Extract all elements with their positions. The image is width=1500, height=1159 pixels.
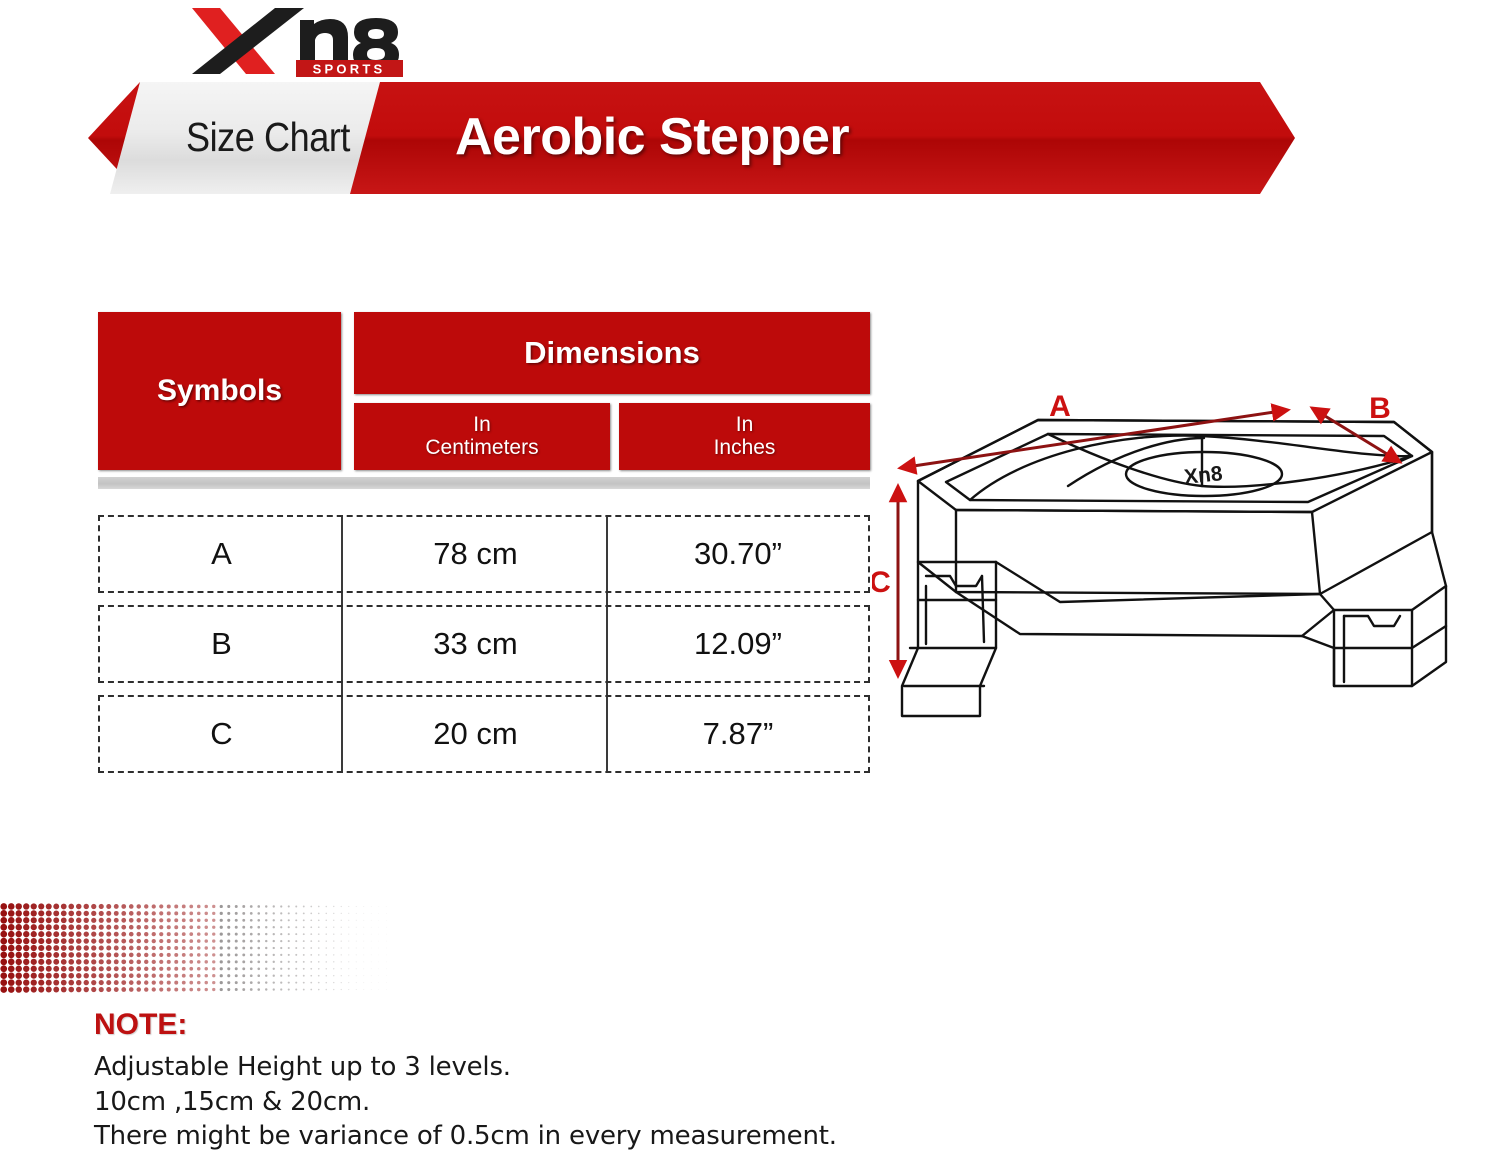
cell-centimeters: 78 cm [343, 517, 608, 591]
unit-cm-line2: Centimeters [425, 437, 538, 460]
size-table: Symbols Dimensions In Centimeters In Inc… [98, 312, 870, 476]
cell-inches: 12.09” [608, 607, 868, 681]
table-row: C 20 cm 7.87” [98, 695, 870, 773]
aerobic-stepper-illustration: Xn8 A B C [872, 386, 1500, 734]
product-diagram: Xn8 A B C [872, 386, 1500, 734]
column-header-symbols: Symbols [98, 312, 341, 470]
product-badge-logo: Xn8 [1183, 462, 1224, 489]
column-header-dimensions: Dimensions [354, 312, 870, 394]
cell-symbol: B [100, 607, 343, 681]
logo-sports-text: SPORTS [313, 62, 386, 77]
size-chart-page: SPORTS [0, 0, 1500, 1159]
note-block: NOTE: Adjustable Height up to 3 levels. … [94, 1008, 1094, 1154]
note-line-1: Adjustable Height up to 3 levels. [94, 1050, 1094, 1085]
unit-in-line2: Inches [714, 437, 776, 460]
table-header: Symbols Dimensions In Centimeters In Inc… [98, 312, 870, 476]
halftone-dots-icon [0, 903, 390, 993]
dimension-label-b: B [1369, 392, 1391, 425]
cell-inches: 30.70” [608, 517, 868, 591]
halftone-dot-decoration [0, 903, 390, 993]
dimension-label-a: A [1049, 390, 1071, 423]
unit-cm-line1: In [473, 414, 491, 437]
page-title: Aerobic Stepper [455, 100, 849, 174]
table-row: B 33 cm 12.09” [98, 605, 870, 683]
table-body: A 78 cm 30.70” B 33 cm 12.09” C 20 cm 7.… [98, 515, 870, 785]
column-header-inches: In Inches [619, 403, 870, 470]
cell-centimeters: 20 cm [343, 697, 608, 771]
note-line-2: 10cm ,15cm & 20cm. [94, 1085, 1094, 1120]
column-header-dimensions-label: Dimensions [524, 335, 700, 371]
cell-centimeters: 33 cm [343, 607, 608, 681]
column-header-symbols-label: Symbols [157, 374, 282, 408]
note-line-3: There might be variance of 0.5cm in ever… [94, 1119, 1094, 1154]
size-chart-ribbon-label: Size Chart [171, 104, 365, 170]
cell-symbol: C [100, 697, 343, 771]
cell-symbol: A [100, 517, 343, 591]
brand-logo: SPORTS [180, 2, 410, 82]
column-header-centimeters: In Centimeters [354, 403, 610, 470]
dimension-label-c: C [872, 566, 891, 599]
header-divider-bar [98, 477, 870, 489]
table-row: A 78 cm 30.70” [98, 515, 870, 593]
unit-in-line1: In [736, 414, 754, 437]
cell-inches: 7.87” [608, 697, 868, 771]
note-title: NOTE: [94, 1008, 1094, 1042]
brand-logo-icon: SPORTS [180, 2, 410, 82]
